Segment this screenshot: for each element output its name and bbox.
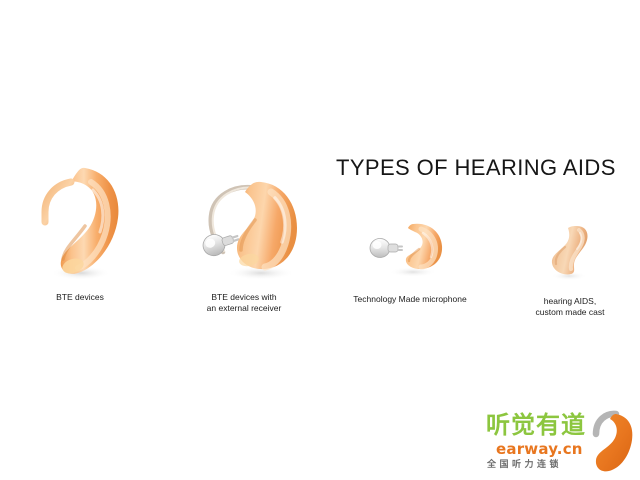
device-caption: BTE devices [6, 292, 154, 303]
page-title: TYPES OF HEARING AIDS [336, 155, 606, 181]
device-caption: Technology Made microphone [330, 294, 490, 305]
logo-wordmark-chinese: 听觉有道 [486, 412, 586, 438]
device-item-bte-external-receiver: BTE devices with an external receiver [168, 172, 320, 313]
device-item-custom-made-cast: hearing AIDS, custom made cast [500, 220, 640, 317]
ear-hook-logo-icon [588, 410, 636, 476]
logo-wordmark-english: earway.cn [496, 441, 583, 458]
logo-tagline: 全国听力连锁 [487, 460, 562, 471]
bte-hook-icon [25, 160, 135, 282]
device-caption: BTE devices with an external receiver [168, 292, 320, 313]
illustration-canvas: TYPES OF HEARING AIDS [0, 0, 640, 480]
device-item-technology-made-microphone: Technology Made microphone [330, 216, 490, 305]
brand-logo[interactable]: 听觉有道 earway.cn 全国听力连锁 [484, 408, 636, 478]
bte-external-receiver-icon [179, 172, 309, 282]
custom-earmold-icon [535, 220, 605, 282]
in-ear-microphone-icon [365, 216, 455, 278]
device-item-bte: BTE devices [6, 160, 154, 303]
device-caption: hearing AIDS, custom made cast [500, 296, 640, 317]
